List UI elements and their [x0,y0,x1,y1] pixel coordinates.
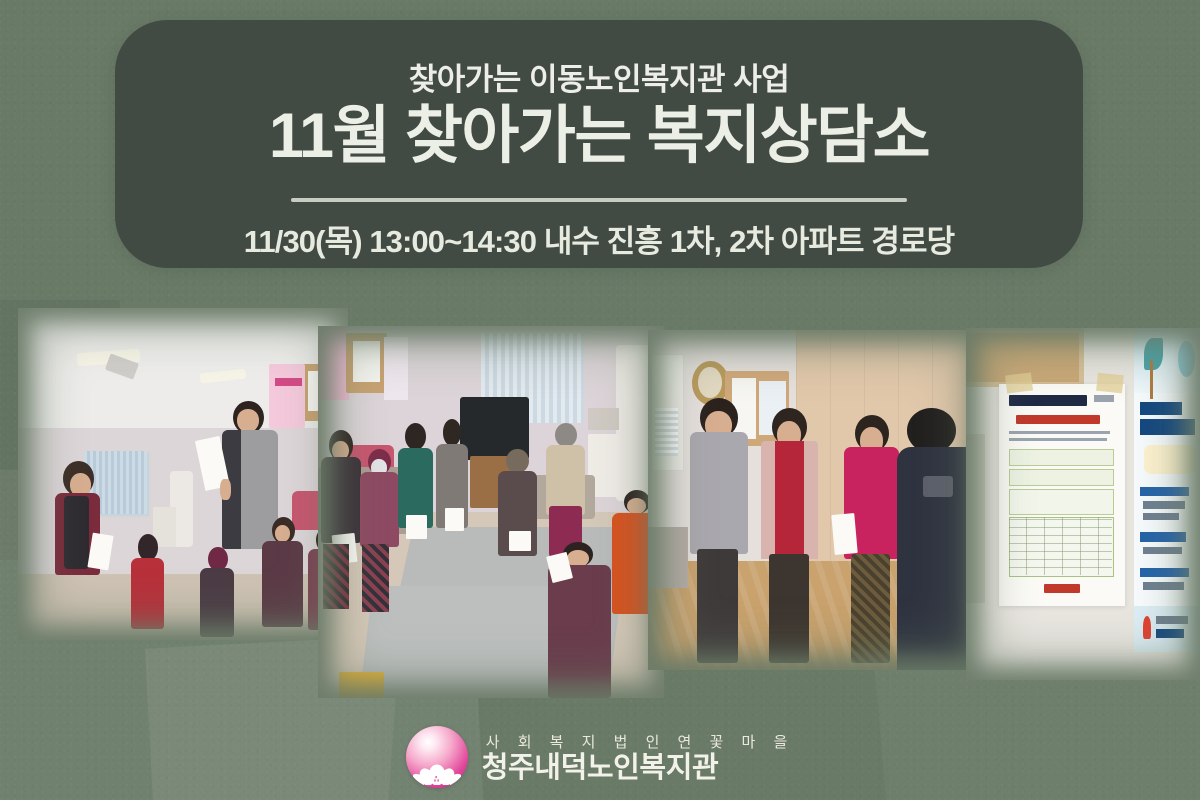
photo-4-scene [966,328,1200,680]
header-panel: 찾아가는 이동노인복지관 사업 11월 찾아가는 복지상담소 11/30(목) … [115,20,1083,268]
person-left-reader [54,461,107,620]
person-gray-cardigan [688,398,752,663]
corporation-name: 사 회 복 지 법 인 연 꽃 마 을 [482,731,795,752]
program-eyebrow: 찾아가는 이동노인복지관 사업 [115,54,1083,99]
organization-name: 청주내덕노인복지관 [482,753,795,783]
notice-sheet [999,384,1125,606]
photo-center-group-seated [318,326,664,698]
title-underline-rule [291,198,907,202]
organization-logo-block: 사 회 복 지 법 인 연 꽃 마 을 청주내덕노인복지관 [0,726,1200,788]
person-red-top-scarf [759,408,823,663]
photo-strip [0,298,1200,698]
page-title: 11월 찾아가는 복지상담소 [115,102,1083,171]
logo-text-block: 사 회 복 지 법 인 연 꽃 마 을 청주내덕노인복지관 [482,731,795,783]
photo-left-room-presentation [18,308,348,640]
photo-wall-notice-poster [966,328,1200,680]
side-poster [1134,328,1200,652]
photo-right-standing-consultation [648,330,984,670]
lotus-circle-icon [406,726,468,788]
person-magenta-top-with-sheet [843,415,903,663]
event-datetime-location: 11/30(목) 13:00~14:30 내수 진흥 1차, 2차 아파트 경로… [115,216,1083,261]
photo-2-scene [318,326,664,698]
photo-3-scene [648,330,984,670]
photo-1-scene [18,308,348,640]
poster-canvas: 찾아가는 이동노인복지관 사업 11월 찾아가는 복지상담소 11/30(목) … [0,0,1200,800]
